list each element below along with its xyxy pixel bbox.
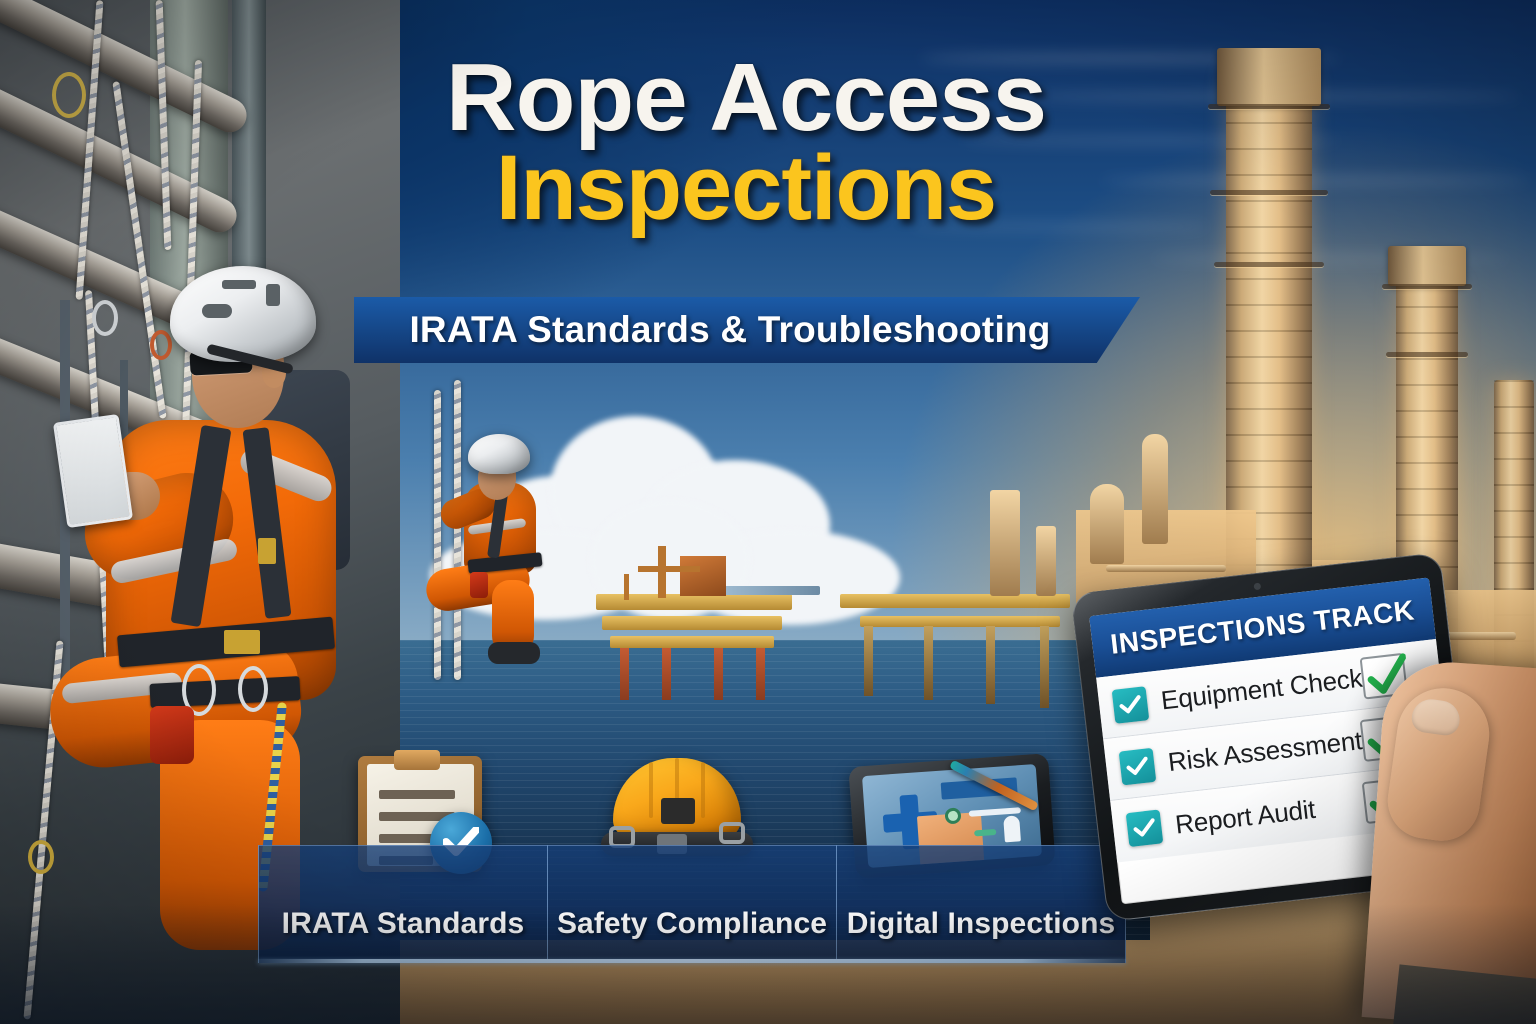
jacket-leg (1040, 626, 1049, 708)
access-rope (156, 0, 172, 250)
harness-buckle (224, 630, 260, 654)
subtitle-text: IRATA Standards & Troubleshooting (409, 309, 1084, 351)
jacket-leg (986, 626, 995, 704)
refinery-stack-cap (1388, 246, 1466, 286)
platform-leg (662, 648, 671, 700)
helmet-front-patch (661, 798, 695, 824)
platform-leg (714, 648, 723, 700)
helmet-vent (222, 280, 256, 289)
platform-leg (756, 648, 765, 700)
rope-access-technician-secondary (420, 430, 560, 680)
platform-helideck (724, 586, 820, 595)
checklist-item-label: Risk Assessment (1153, 725, 1364, 779)
stack-platform-ring (1382, 284, 1472, 289)
clipboard-clip (394, 750, 440, 770)
stack-platform-ring (1208, 104, 1330, 109)
harness-buckle (258, 538, 276, 564)
jacket-stack (1036, 526, 1056, 596)
platform-mast (624, 574, 629, 600)
jacket-stack (990, 490, 1020, 596)
backup-rope (454, 380, 461, 680)
carabiner-icon (52, 72, 86, 118)
checklist-item-label: Equipment Check (1146, 663, 1364, 718)
jacket-deck (860, 616, 1060, 627)
refinery-stack-cap (1217, 48, 1321, 106)
row-checkbox-small[interactable] (1112, 686, 1150, 724)
checklist-item-label: Report Audit (1160, 788, 1366, 842)
descender-device (150, 706, 194, 764)
row-checkbox-small[interactable] (1126, 809, 1164, 847)
descender-device (470, 572, 488, 598)
form-marker (1003, 815, 1021, 842)
poster-canvas: Rope Access Inspections IRATA Standards … (0, 0, 1536, 1024)
platform-leg (620, 648, 629, 700)
helmet-buckle-icon (719, 822, 745, 844)
platform-derrick (658, 546, 666, 598)
stack-platform-ring (1386, 352, 1468, 357)
helmet-vent (266, 284, 280, 306)
platform-derrick (680, 556, 726, 596)
platform-deck (610, 636, 774, 648)
refinery-vessel (1142, 434, 1168, 544)
helmet-vent (202, 304, 232, 318)
jacket-deck (840, 594, 1070, 608)
worker-boot (488, 642, 540, 664)
row-checkbox-small[interactable] (1119, 747, 1157, 785)
safety-helmet (468, 434, 530, 474)
title-block: Rope Access Inspections (366, 50, 1126, 237)
subtitle-banner: IRATA Standards & Troubleshooting (354, 297, 1140, 363)
page-title-line2: Inspections (366, 140, 1126, 237)
jacket-leg (864, 626, 873, 696)
worker-tablet (53, 414, 133, 528)
bottom-fade-overlay (0, 904, 1536, 1024)
access-rope (434, 390, 441, 680)
carabiner-icon (238, 666, 268, 712)
platform-deck (602, 616, 782, 630)
platform-crane (638, 566, 700, 572)
form-field-line (974, 829, 996, 837)
stack-platform-ring (1210, 190, 1328, 195)
jacket-leg (924, 626, 933, 700)
page-title-line1: Rope Access (358, 50, 1133, 146)
offshore-oil-platform (590, 530, 840, 700)
stack-platform-ring (1214, 262, 1324, 267)
